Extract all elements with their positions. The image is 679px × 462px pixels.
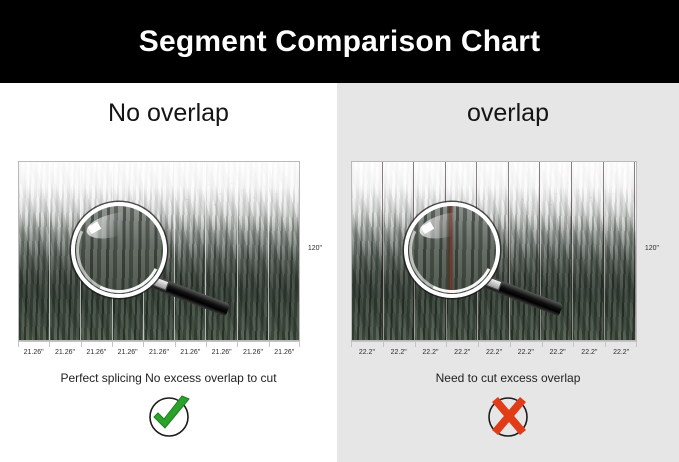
segment-label: 22.2": [542, 342, 574, 363]
segment-label: 22.2": [478, 342, 510, 363]
panel-heading-overlap: overlap: [337, 101, 679, 126]
segment-label: 21.26": [175, 342, 206, 363]
segmented-image-block-no-overlap: 120" 21.26" 21.26" 21.26" 21.26" 21.26" …: [18, 161, 300, 363]
forest-image-no-overlap: [18, 161, 300, 341]
segment-label: 22.2": [351, 342, 383, 363]
verdict-overlap: [337, 393, 679, 441]
segment-label: 22.2": [415, 342, 447, 363]
segment-label: 21.26": [49, 342, 80, 363]
panel-no-overlap: No overlap: [0, 83, 337, 462]
width-axis-overlap: 22.2" 22.2" 22.2" 22.2" 22.2" 22.2" 22.2…: [351, 341, 637, 363]
segment-label: 22.2": [510, 342, 542, 363]
segment-label: 21.26": [112, 342, 143, 363]
header-bar: Segment Comparison Chart: [0, 0, 679, 83]
segment-label: 22.2": [573, 342, 605, 363]
page-title: Segment Comparison Chart: [139, 27, 541, 57]
segment-label: 22.2": [605, 342, 637, 363]
segment-label: 21.26": [269, 342, 300, 363]
caption-no-overlap: Perfect splicing No excess overlap to cu…: [0, 372, 337, 384]
segmented-image-block-overlap: 120" 22.2" 22.2" 22.2" 22.2" 22.2" 22.2"…: [351, 161, 637, 363]
segment-label: 21.26": [237, 342, 268, 363]
height-label-overlap: 120": [645, 245, 659, 252]
forest-photo: [19, 162, 299, 340]
panel-heading-no-overlap: No overlap: [0, 101, 337, 126]
segment-label: 22.2": [383, 342, 415, 363]
verdict-no-overlap: [0, 393, 337, 441]
panel-overlap: overlap: [337, 83, 679, 462]
height-label-no-overlap: 120": [308, 245, 322, 252]
comparison-panels: No overlap: [0, 83, 679, 462]
segment-label: 22.2": [446, 342, 478, 363]
check-mark-icon: [141, 393, 197, 441]
caption-overlap: Need to cut excess overlap: [337, 372, 679, 384]
segment-label: 21.26": [143, 342, 174, 363]
segment-label: 21.26": [206, 342, 237, 363]
segment-label: 21.26": [81, 342, 112, 363]
forest-image-overlap: [351, 161, 637, 341]
cross-mark-icon: [480, 393, 536, 441]
segment-label: 21.26": [18, 342, 49, 363]
width-axis-no-overlap: 21.26" 21.26" 21.26" 21.26" 21.26" 21.26…: [18, 341, 300, 363]
forest-photo: [352, 162, 636, 340]
